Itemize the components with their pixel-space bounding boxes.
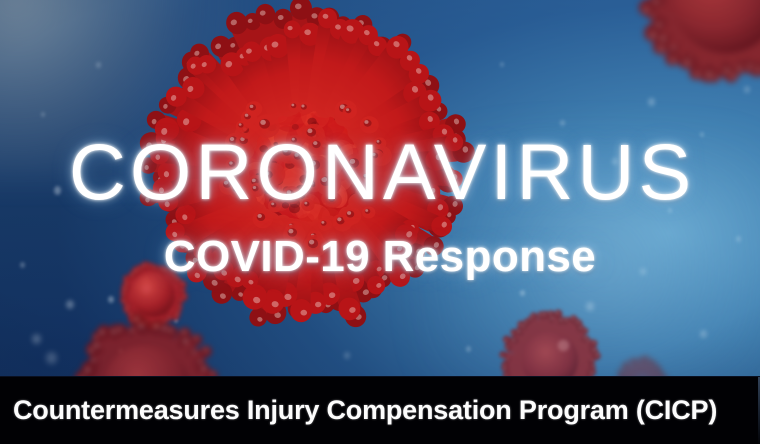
- headline-group: CORONAVIRUS COVID-19 Response: [0, 0, 760, 376]
- program-name: Countermeasures Injury Compensation Prog…: [13, 394, 717, 426]
- cicp-coronavirus-banner: CORONAVIRUS COVID-19 Response Countermea…: [0, 0, 760, 444]
- page-subtitle: COVID-19 Response: [0, 233, 760, 281]
- program-caption-bar: Countermeasures Injury Compensation Prog…: [0, 376, 760, 444]
- hero-image: CORONAVIRUS COVID-19 Response: [0, 0, 760, 376]
- page-title: CORONAVIRUS: [0, 132, 760, 212]
